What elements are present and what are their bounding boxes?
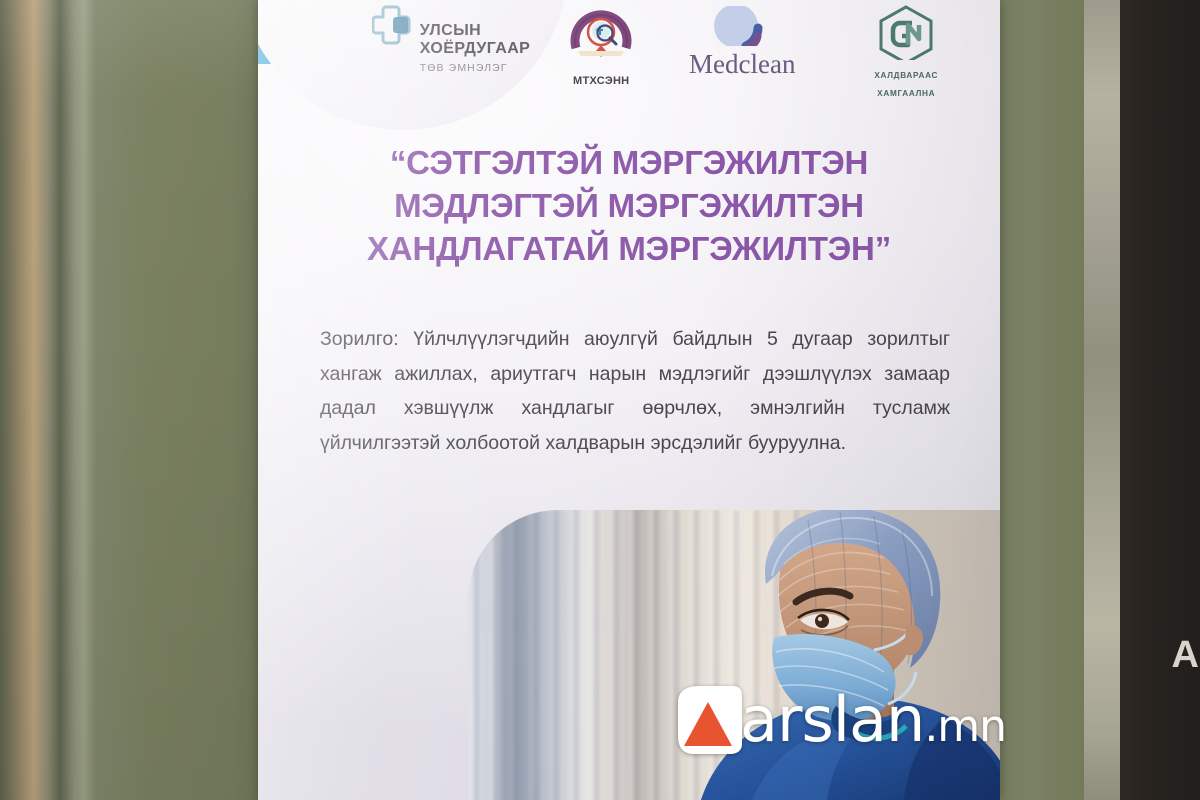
banner-body-text: Зорилго: Үйлчлүүлэгчдийн аюулгүй байдлын… <box>320 322 950 461</box>
logo-mtkhsenn: МТХСЭНН <box>564 4 638 89</box>
logo-hospital-line3: ТӨВ ЭМНЭЛЭГ <box>420 62 508 74</box>
logo-hospital-text: УЛСЫН ХОЁРДУГААР ТӨВ ЭМНЭЛЭГ <box>420 22 530 76</box>
headline-line-2: МЭДЛЭГТЭЙ МЭРГЭЖИЛТЭН <box>279 185 979 228</box>
rollup-banner: УЛСЫН ХОЁРДУГААР ТӨВ ЭМНЭЛЭГ <box>258 0 1000 800</box>
metal-door-strip <box>1084 0 1120 800</box>
photograph: A УЛСЫН ХОЁРДУГААР ТӨВ ЭМНЭЛЭГ <box>0 0 1200 800</box>
left-wall-shading <box>0 0 262 800</box>
logo-medclean: Medclean <box>672 6 812 78</box>
logo-mtkhsenn-caption: МТХСЭНН <box>573 75 629 87</box>
circle-arc-icon <box>672 33 812 50</box>
logo-row: УЛСЫН ХОЁРДУГААР ТӨВ ЭМНЭЛЭГ <box>258 4 1000 90</box>
photo-window-blur <box>500 510 576 800</box>
headline-line-1: “СЭТГЭЛТЭЙ МЭРГЭЖИЛТЭН <box>279 142 979 185</box>
logo-ulsyn-hoyordugaar-tov-emneleg: УЛСЫН ХОЁРДУГААР ТӨВ ЭМНЭЛЭГ <box>372 6 530 76</box>
magnifier-badge-icon <box>564 53 638 70</box>
logo-gn-caption: ХАЛДВАРААС ХАМГААЛНА <box>874 71 938 98</box>
watermark-text: arslan.mn <box>740 689 1006 751</box>
logo-hospital-line2: ХОЁРДУГААР <box>420 40 530 57</box>
triangle-in-rounded-square-icon <box>672 684 744 756</box>
edge-letter: A <box>1172 636 1198 674</box>
hexagon-gn-icon <box>846 47 966 64</box>
banner-headline: “СЭТГЭЛТЭЙ МЭРГЭЖИЛТЭН МЭДЛЭГТЭЙ МЭРГЭЖИ… <box>279 142 979 271</box>
headline-line-3: ХАНДЛАГАТАЙ МЭРГЭЖИЛТЭН” <box>279 228 979 271</box>
medical-cross-icon <box>372 4 418 52</box>
right-wall <box>996 0 1084 800</box>
watermark-name: arslan <box>740 683 924 756</box>
arslan-mn-watermark: arslan.mn <box>672 684 1006 756</box>
logo-hospital-line1: УЛСЫН <box>420 22 481 39</box>
banner-photo <box>468 510 1000 800</box>
healthcare-worker-figure <box>688 510 1000 800</box>
logo-gn: ХАЛДВАРААС ХАМГААЛНА <box>846 4 966 101</box>
logo-medclean-wordmark: Medclean <box>689 49 795 79</box>
dark-panel <box>1120 0 1200 800</box>
watermark-domain: .mn <box>924 701 1006 752</box>
